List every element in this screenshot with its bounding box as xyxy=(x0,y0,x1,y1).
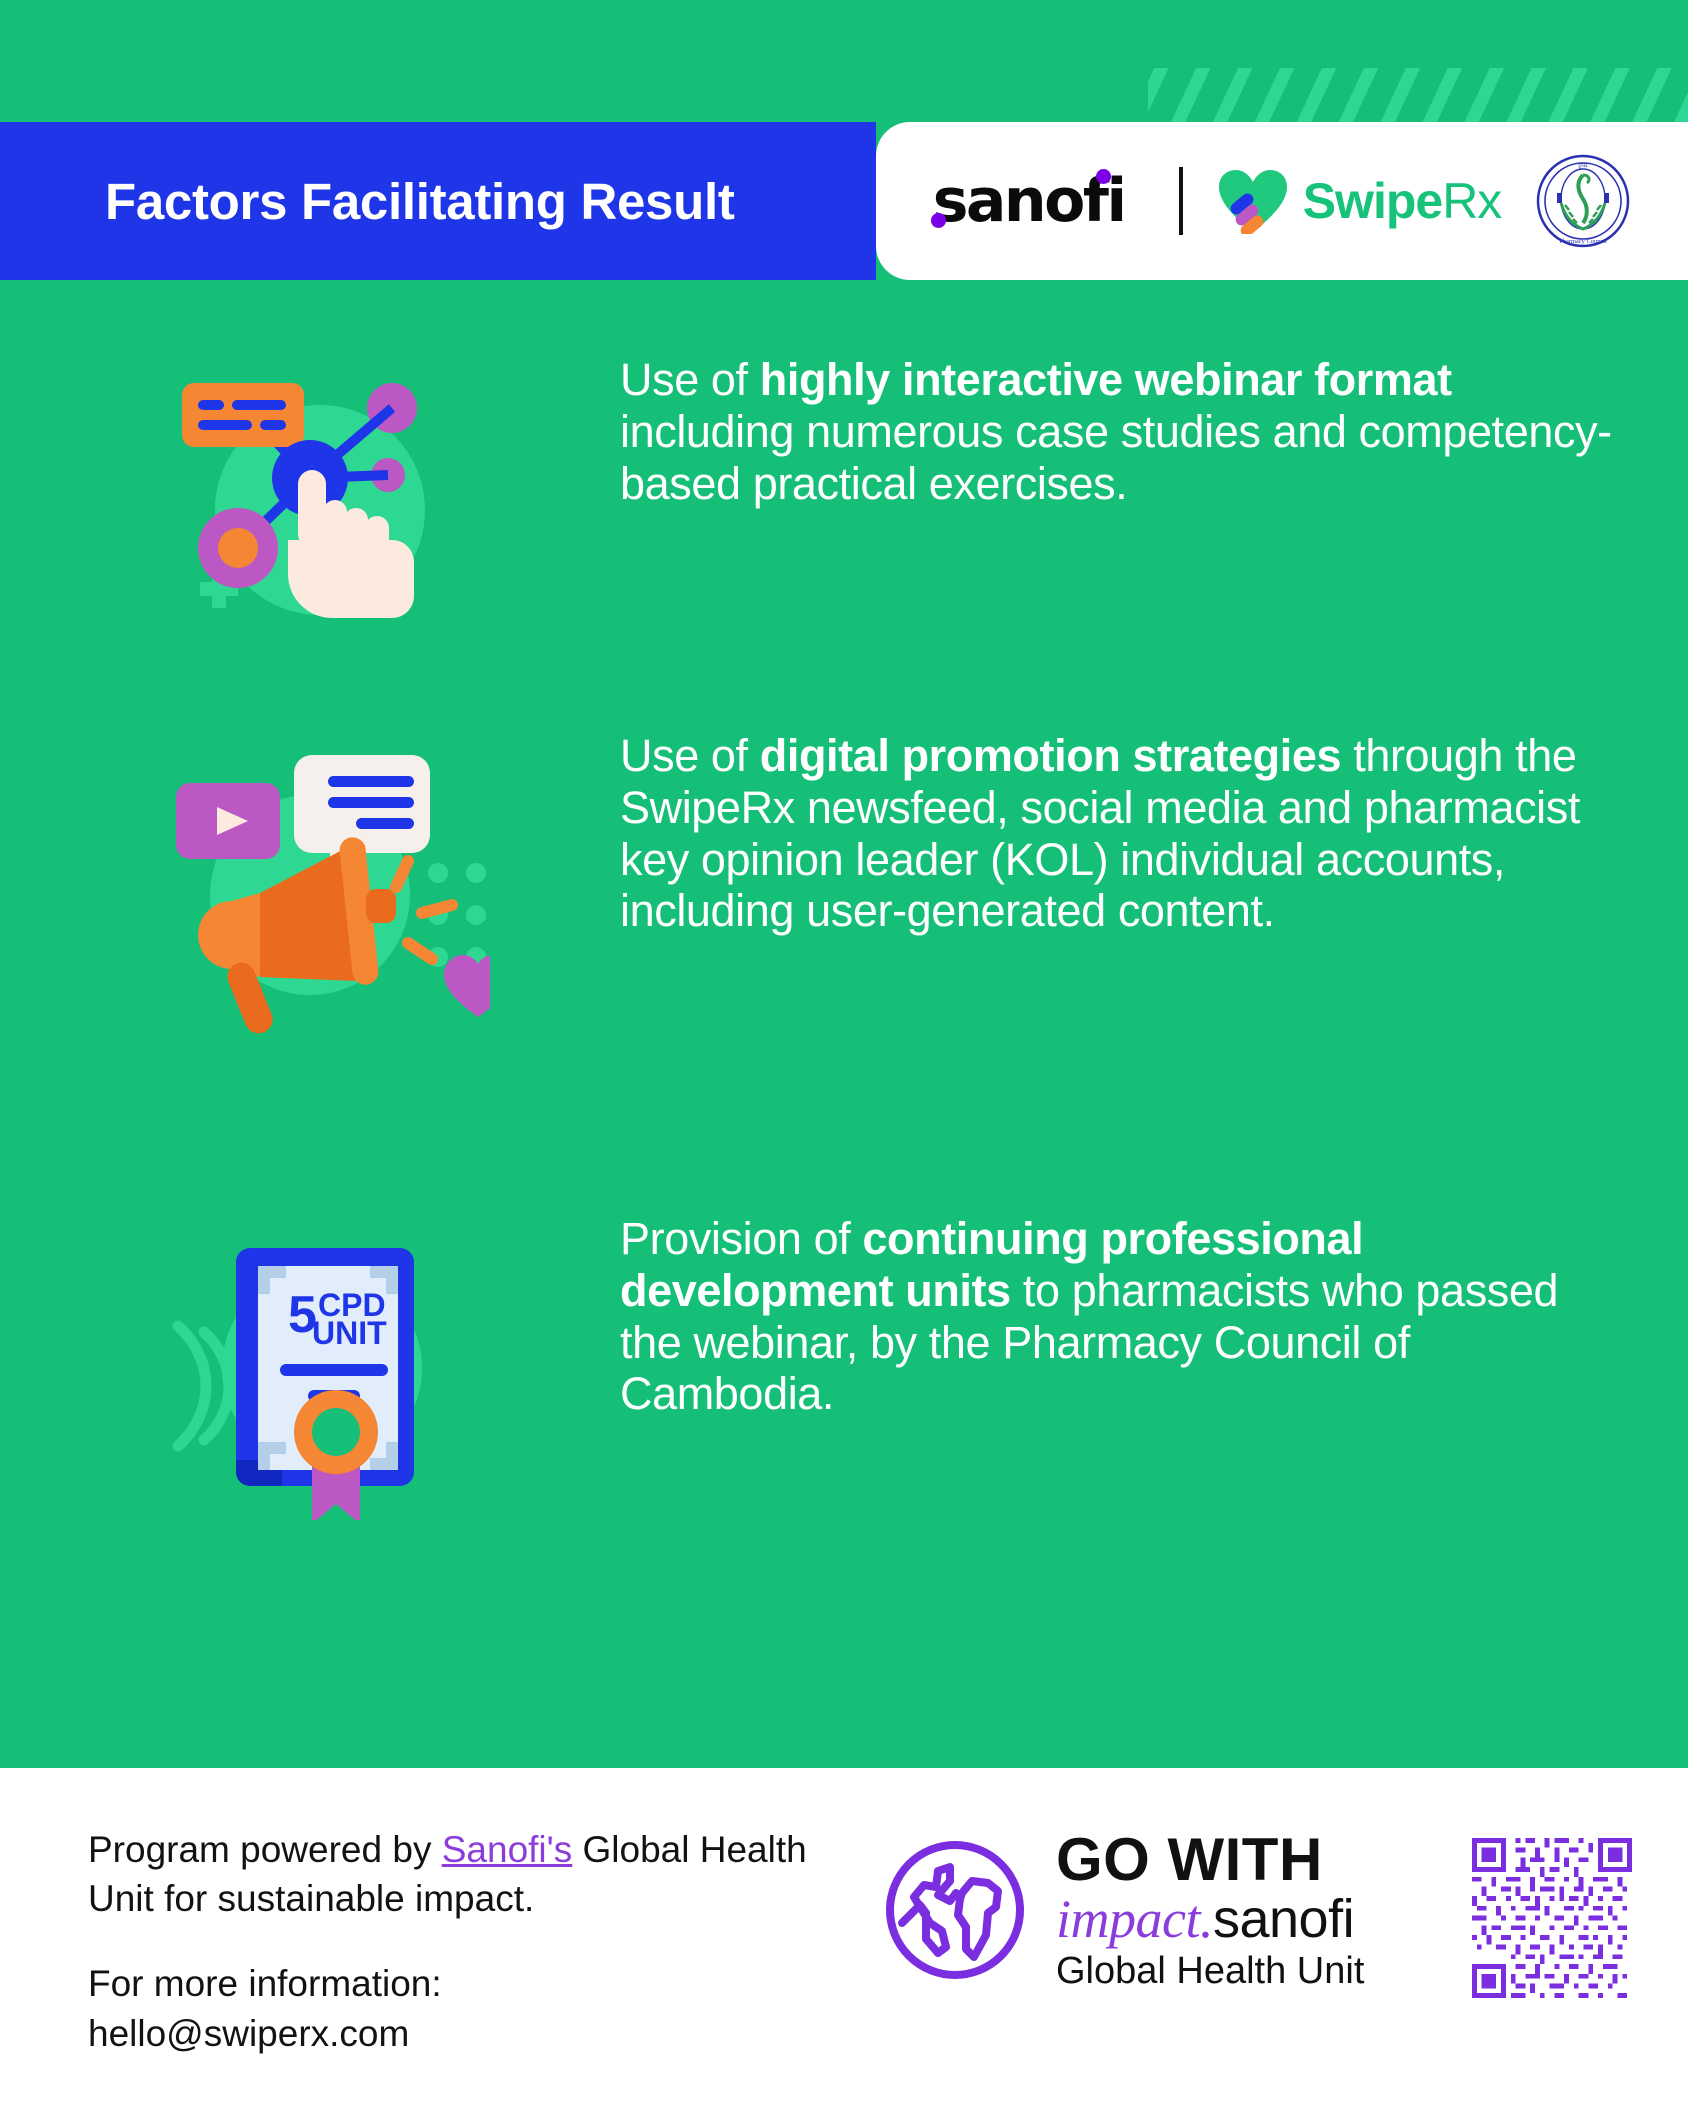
footer-contact-label: For more information: xyxy=(88,1959,828,2008)
swiperx-wordmark: SwipeRx xyxy=(1303,172,1502,230)
interactive-webinar-icon xyxy=(160,350,460,650)
sanofi-dot-upper-icon xyxy=(1096,169,1111,184)
sanofi-wordmark: sanofi xyxy=(933,166,1145,236)
qr-code[interactable] xyxy=(1472,1838,1632,1998)
svg-text:Pharmacy Council: Pharmacy Council xyxy=(1560,238,1608,245)
header: Factors Facilitating Result sanofi xyxy=(0,122,1688,280)
swiperx-heart-icon xyxy=(1217,168,1289,234)
footer-paragraph-1: Program powered by Sanofi's Global Healt… xyxy=(88,1825,828,1923)
go-with-line-1: GO WITH xyxy=(1056,1830,1364,1890)
row-2-text: Use of digital promotion strategies thro… xyxy=(620,730,1618,937)
certificate-line2: UNIT xyxy=(312,1315,387,1351)
row-1-text-cell: Use of highly interactive webinar format… xyxy=(620,340,1688,509)
interactive-webinar-icon-cell xyxy=(0,340,620,660)
sanofi-logo: sanofi xyxy=(933,166,1145,236)
pharmacy-council-of-cambodia-seal: ក្រង Pharmacy Council xyxy=(1535,153,1631,249)
footer-text-block: Program powered by Sanofi's Global Healt… xyxy=(88,1825,828,2058)
sanofi-dot-lower-icon xyxy=(931,213,946,228)
go-with-text: GO WITH impact.sanofi Global Health Unit xyxy=(1056,1830,1364,1990)
globe-icon xyxy=(880,1835,1030,1985)
content-row-1: Use of highly interactive webinar format… xyxy=(0,340,1688,670)
cpd-certificate-icon-cell: 5 CPD UNIT xyxy=(0,1205,620,1535)
go-with-impact-sanofi-logo: GO WITH impact.sanofi Global Health Unit xyxy=(880,1830,1364,1990)
diagonal-stripes-decoration xyxy=(1148,68,1688,123)
title-bar: Factors Facilitating Result xyxy=(0,122,876,280)
row-3-text: Provision of continuing professional dev… xyxy=(620,1213,1618,1420)
swiperx-logo: SwipeRx xyxy=(1217,168,1502,234)
footer-paragraph-2: For more information: hello@swiperx.com xyxy=(88,1959,828,2057)
digital-promotion-icon xyxy=(160,745,460,1045)
go-with-line-3: Global Health Unit xyxy=(1056,1952,1364,1990)
sanofi-link[interactable]: Sanofi's xyxy=(442,1829,572,1870)
content-row-3: 5 CPD UNIT Provision of continuing profe… xyxy=(0,1205,1688,1535)
svg-text:ក្រង: ក្រង xyxy=(1579,162,1589,169)
page-title: Factors Facilitating Result xyxy=(105,172,735,231)
cpd-certificate-icon: 5 CPD UNIT xyxy=(160,1220,460,1520)
footer: Program powered by Sanofi's Global Healt… xyxy=(0,1768,1688,2109)
logo-divider xyxy=(1179,167,1183,235)
row-3-text-cell: Provision of continuing professional dev… xyxy=(620,1205,1688,1420)
digital-promotion-icon-cell xyxy=(0,730,620,1060)
footer-contact-email[interactable]: hello@swiperx.com xyxy=(88,2009,828,2058)
row-2-text-cell: Use of digital promotion strategies thro… xyxy=(620,730,1688,937)
poster-page: Factors Facilitating Result sanofi xyxy=(0,0,1688,2109)
logo-bar: sanofi SwipeRx xyxy=(876,122,1688,280)
go-with-line-2: impact.sanofi xyxy=(1056,1892,1364,1946)
content-row-2: Use of digital promotion strategies thro… xyxy=(0,730,1688,1060)
row-1-text: Use of highly interactive webinar format… xyxy=(620,354,1618,509)
